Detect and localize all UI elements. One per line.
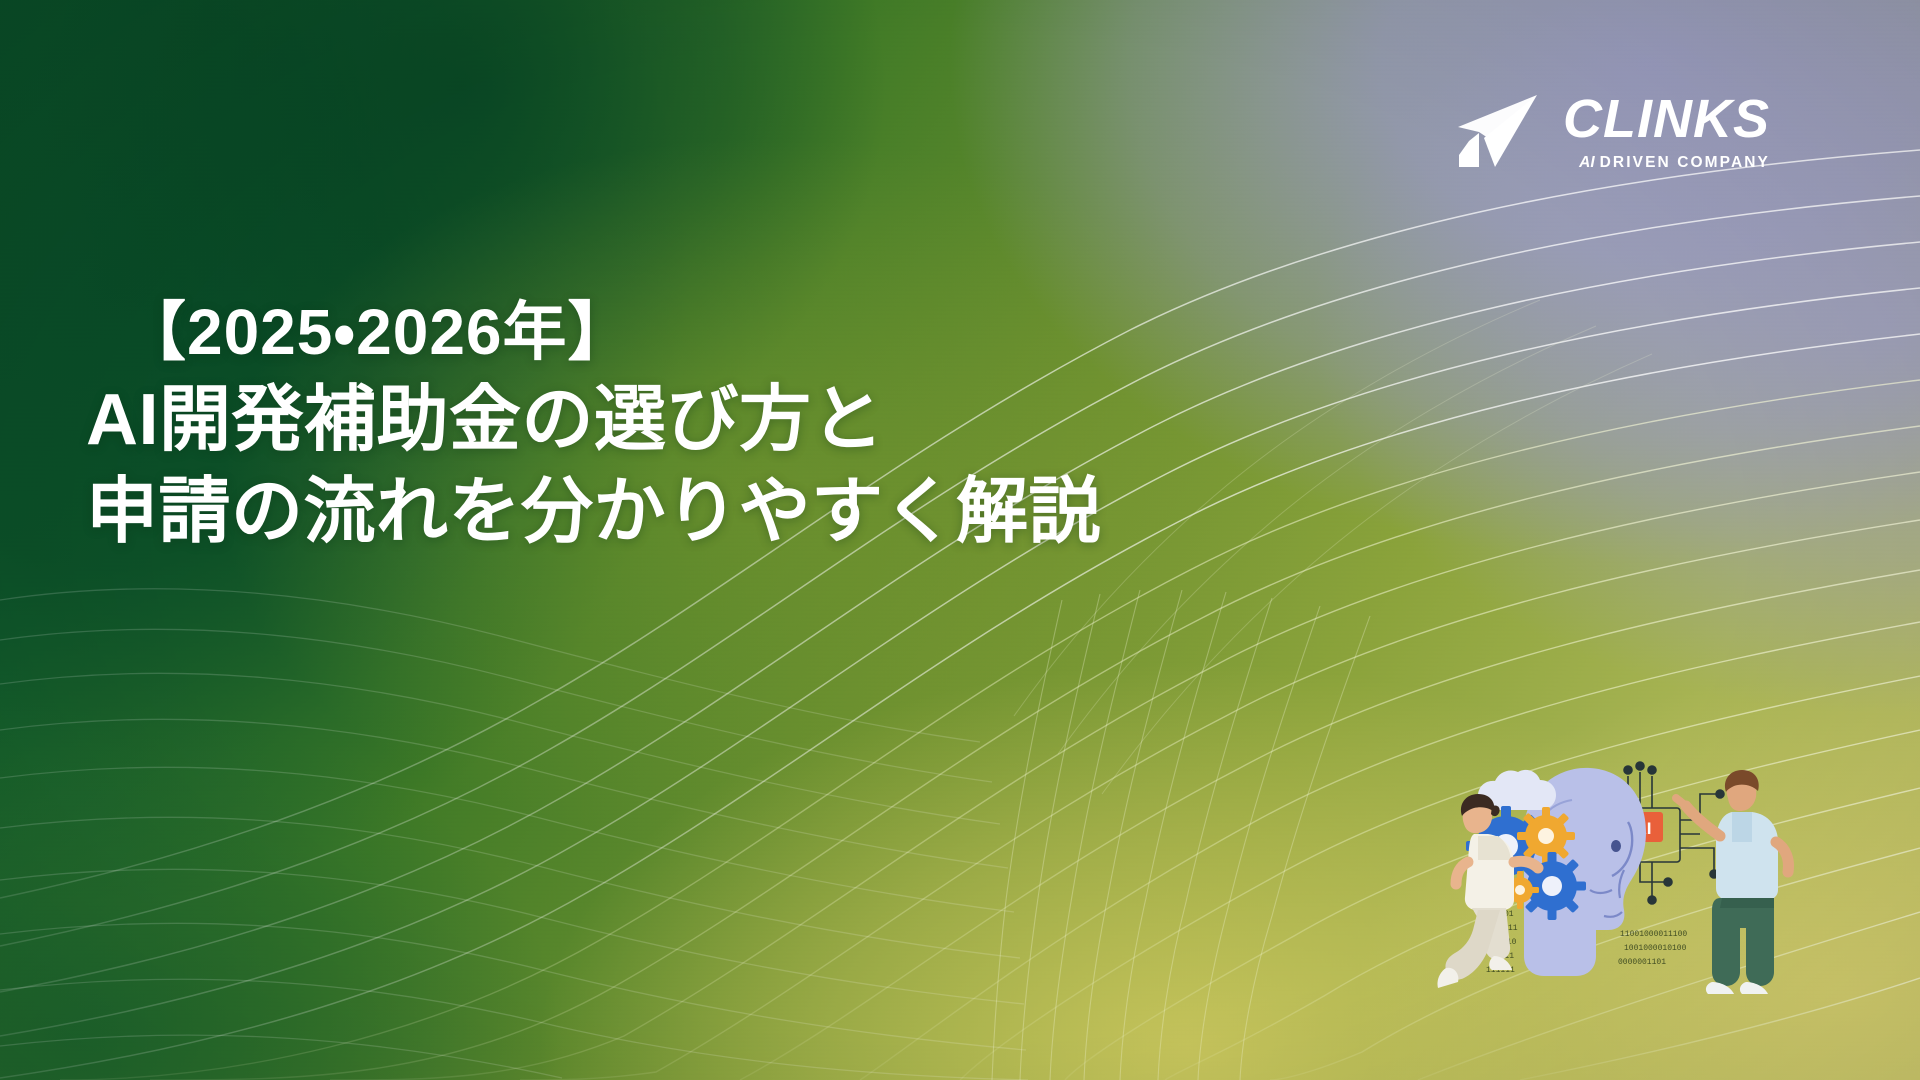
logo-tagline-ai: AI: [1579, 155, 1595, 171]
logo-wordmark: CLINKS AI DRIVEN COMPANY: [1563, 92, 1770, 171]
svg-text:0000001101: 0000001101: [1618, 958, 1666, 967]
svg-text:1001000010100: 1001000010100: [1624, 944, 1687, 953]
paper-plane-arrow-icon: [1455, 93, 1541, 169]
title-line-1: 【2025・2026年】: [86, 292, 1101, 374]
logo-brand-name: CLINKS: [1563, 92, 1770, 146]
ai-concept-illustration: AI: [1328, 750, 1808, 1010]
svg-text:11001000011100: 11001000011100: [1620, 930, 1687, 939]
title-line-2: AI開発補助金の選び方と: [86, 374, 1101, 466]
clinks-logo[interactable]: CLINKS AI DRIVEN COMPANY: [1455, 92, 1770, 171]
page-title: 【2025・2026年】 AI開発補助金の選び方と 申請の流れを分かりやすく解説: [86, 292, 1101, 558]
title-line-3: 申請の流れを分かりやすく解説: [86, 466, 1101, 558]
logo-tagline: AI DRIVEN COMPANY: [1579, 155, 1770, 171]
person-right-pointing: [1676, 770, 1789, 994]
logo-tagline-rest: DRIVEN COMPANY: [1600, 155, 1770, 171]
hero-banner: CLINKS AI DRIVEN COMPANY 【2025・2026年】 AI…: [0, 0, 1920, 1080]
binary-digits-right: 11001000011100 1001000010100 0000001101: [1618, 930, 1687, 967]
